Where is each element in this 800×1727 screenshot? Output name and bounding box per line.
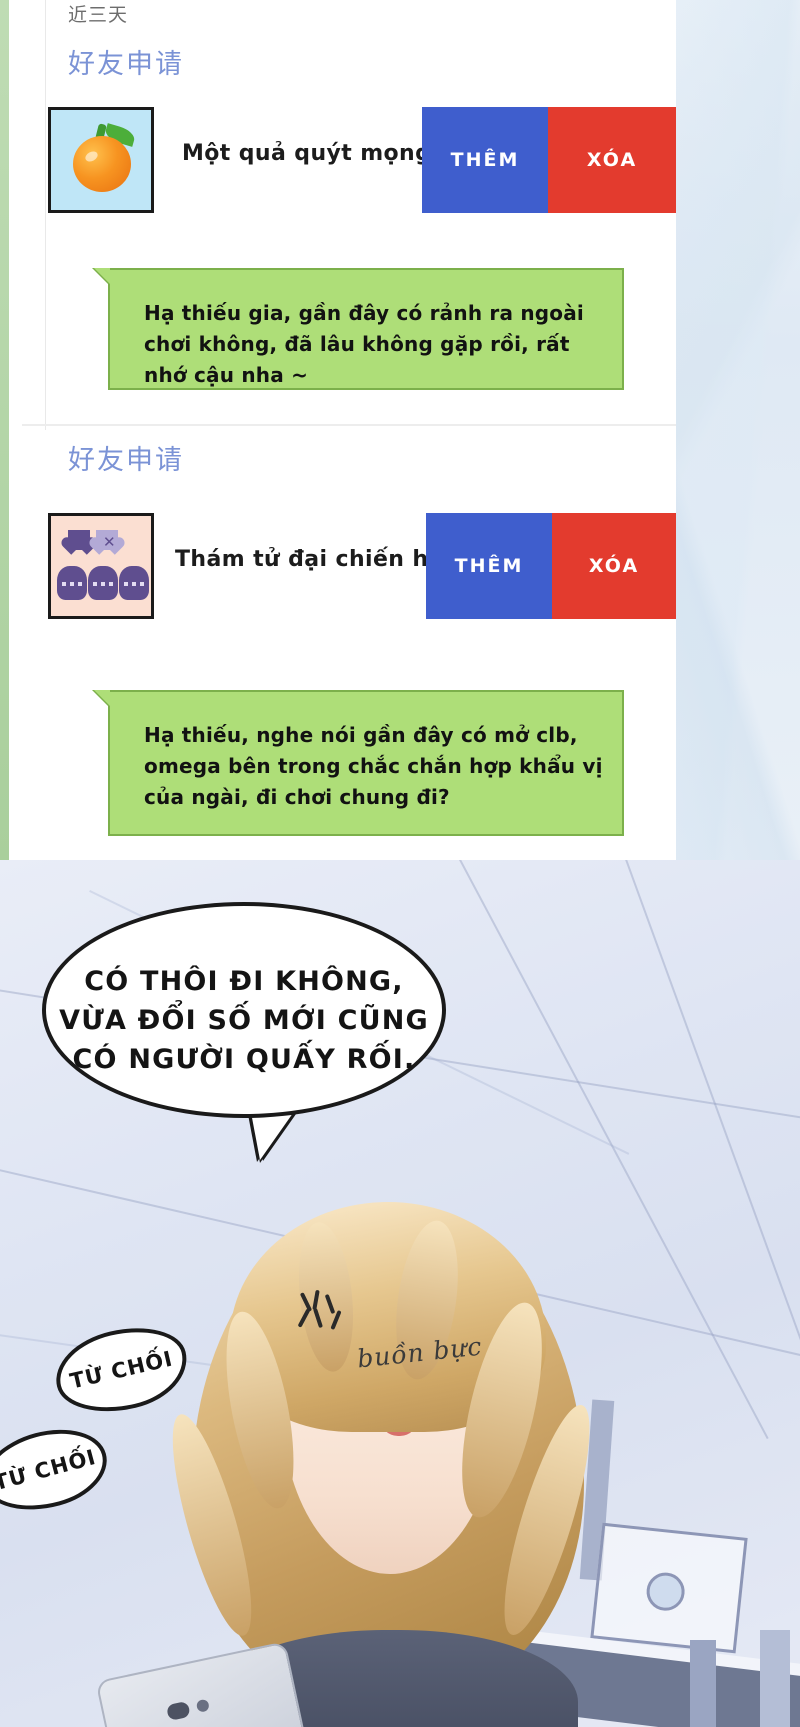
background-post-1 (690, 1640, 716, 1727)
delete-friend-button-2[interactable]: XÓA (552, 513, 676, 619)
list-divider (22, 424, 676, 426)
chat-panel: 近三天 好友申请 Một quả quýt mọng nước THÊM XÓA… (0, 0, 800, 860)
background-post-2 (760, 1630, 790, 1727)
add-friend-button-1[interactable]: THÊM (422, 107, 548, 213)
section-title-friend-request-2: 好友申请 (68, 444, 184, 478)
phone-flash-icon (196, 1699, 210, 1713)
delete-friend-button-1[interactable]: XÓA (548, 107, 676, 213)
bubble-tail-1 (94, 268, 110, 284)
reject-bubble-2: TỪ CHỐI (0, 1417, 116, 1523)
section-title-friend-request-1: 好友申请 (68, 48, 184, 82)
wall-sign-circle-icon (645, 1571, 687, 1613)
bubble-tail-2 (94, 690, 110, 706)
phone-camera-icon (166, 1701, 191, 1721)
friend-request-row-2[interactable]: ✕ Thám tử đại chiến hiệp tử THÊM XÓA (0, 513, 676, 621)
anger-mark-icon (300, 1290, 344, 1330)
avatar-figure-1-icon (57, 566, 87, 600)
avatar-figure-3-icon (119, 566, 149, 600)
list-vertical-rule (45, 0, 46, 430)
orange-fruit-icon (73, 136, 131, 192)
orange-fruit-avatar[interactable] (48, 107, 154, 213)
request-message-bubble-2: Hạ thiếu, nghe nói gần đây có mở clb, om… (108, 690, 624, 836)
purple-hearts-avatar[interactable]: ✕ (48, 513, 154, 619)
request-message-text-1: Hạ thiếu gia, gần đây có rảnh ra ngoài c… (144, 298, 604, 391)
room-line-4 (618, 860, 800, 1404)
friend-request-row-1[interactable]: Một quả quýt mọng nước THÊM XÓA (0, 107, 676, 215)
character-figure (170, 1160, 600, 1727)
illustration-panel: CÓ THÔI ĐI KHÔNG, VỪA ĐỔI SỐ MỚI CŨNG CÓ… (0, 860, 800, 1727)
avatar-figure-2-icon (88, 566, 118, 600)
request-message-text-2: Hạ thiếu, nghe nói gần đây có mở clb, om… (144, 720, 604, 813)
speech-balloon: CÓ THÔI ĐI KHÔNG, VỪA ĐỔI SỐ MỚI CŨNG CÓ… (42, 902, 446, 1118)
add-friend-button-2[interactable]: THÊM (426, 513, 552, 619)
comic-page: 近三天 好友申请 Một quả quýt mọng nước THÊM XÓA… (0, 0, 800, 1727)
wall-sign-frame (590, 1523, 747, 1654)
speech-balloon-text: CÓ THÔI ĐI KHÔNG, VỪA ĐỔI SỐ MỚI CŨNG CÓ… (46, 962, 442, 1079)
heart-icon-filled (68, 530, 90, 550)
friend-request-list: 近三天 好友申请 Một quả quýt mọng nước THÊM XÓA… (0, 0, 676, 860)
x-mark-icon: ✕ (103, 535, 116, 550)
request-message-bubble-1: Hạ thiếu gia, gần đây có rảnh ra ngoài c… (108, 268, 624, 390)
date-label: 近三天 (68, 0, 128, 30)
